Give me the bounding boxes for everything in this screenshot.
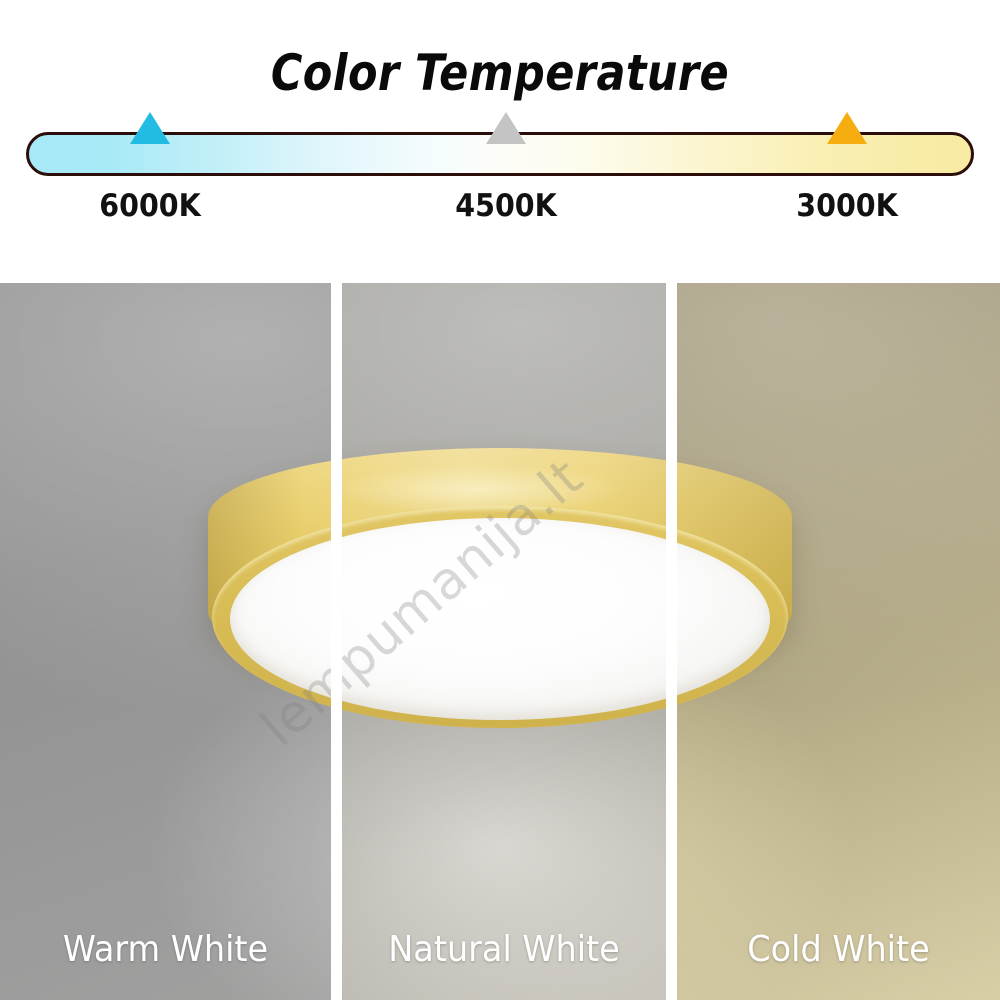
scene-warm-white: lempumanija.lt: [0, 283, 331, 1000]
marker-label-3000k: 3000K: [746, 188, 948, 224]
lamp-comparison-photo: lempumanija.lt Warm White lempumanija.lt…: [0, 283, 1000, 1000]
panel-natural-white: lempumanija.lt Natural White: [342, 283, 666, 1000]
triangle-up-icon: [130, 112, 170, 144]
ceiling-lamp-fixture: [677, 448, 792, 743]
page-title: Color Temperature: [70, 44, 930, 102]
panel-cold-white: lempumanija.lt Cold White: [677, 283, 1000, 1000]
panel-warm-white: lempumanija.lt Warm White: [0, 283, 331, 1000]
color-temperature-infographic: Color Temperature 6000K 4500K 3000K: [0, 0, 1000, 1000]
marker-label-4500k: 4500K: [404, 188, 606, 224]
lamp-white-diffuser: [342, 518, 666, 720]
caption-warm-white: Warm White: [12, 929, 320, 970]
triangle-up-icon: [486, 112, 526, 144]
triangle-up-icon: [827, 112, 867, 144]
ceiling-lamp-fixture: [208, 448, 331, 743]
ceiling-lamp-fixture: [342, 448, 666, 743]
scene-cold-white: lempumanija.lt: [677, 283, 1000, 1000]
caption-cold-white: Cold White: [688, 929, 988, 970]
marker-label-6000k: 6000K: [49, 188, 251, 224]
lamp-top-highlight: [342, 454, 666, 524]
color-temperature-scale: 6000K 4500K 3000K: [0, 132, 1000, 242]
scene-natural-white: lempumanija.lt: [342, 283, 666, 1000]
caption-natural-white: Natural White: [353, 929, 654, 970]
